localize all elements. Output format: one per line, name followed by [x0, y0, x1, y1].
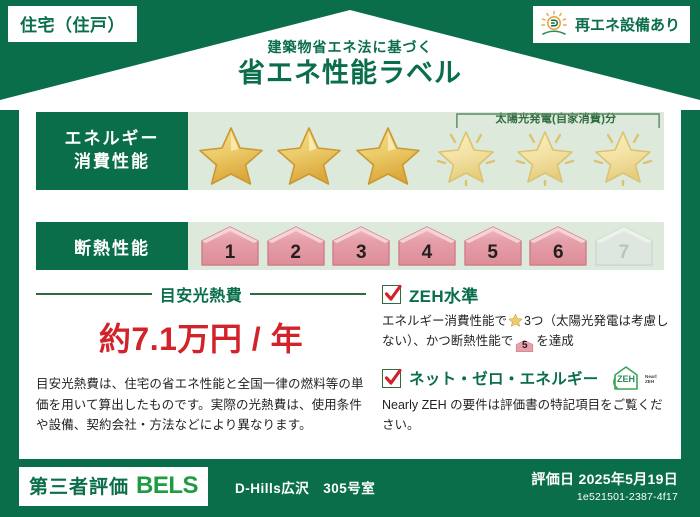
title-block: 建築物省エネ法に基づく 省エネ性能ラベル — [0, 40, 700, 89]
zeh-house-logo-icon: ZEH Nearly ZEH — [611, 365, 657, 391]
insulation-level-4: 4 — [395, 225, 459, 267]
inline-star-icon — [508, 313, 523, 327]
utility-cost-heading: 目安光熱費 — [36, 282, 366, 306]
bels-en-label: BELS — [136, 472, 198, 500]
renewable-badge-label: 再エネ設備あり — [575, 14, 680, 35]
svg-text:ZEH: ZEH — [645, 379, 655, 384]
insulation-level-2-value: 2 — [290, 242, 301, 267]
zeh-standard-header: ZEH水準 — [382, 282, 672, 307]
insulation-level-1-value: 1 — [225, 242, 236, 267]
zeh-body-starcount: 3つ（太陽光発電 — [524, 314, 618, 328]
insulation-level-7: 7 — [592, 225, 656, 267]
star-icon-5-solar — [510, 124, 580, 186]
heading-rule-right — [250, 293, 366, 295]
insulation-level-4-value: 4 — [422, 242, 433, 267]
insulation-level-track: 1 2 3 — [188, 222, 664, 270]
net-zero-energy-checkbox — [382, 369, 401, 388]
star-icon-1 — [196, 124, 266, 186]
utility-cost-block: 目安光熱費 約7.1万円 / 年 目安光熱費は、住宅の省エネ性能と全国一律の燃料… — [36, 282, 366, 436]
utility-cost-value: 約7.1万円 / 年 — [36, 314, 366, 360]
star-icon-3 — [353, 124, 423, 186]
insulation-level-2: 2 — [264, 225, 328, 267]
insulation-performance-row: 断熱性能 1 — [36, 222, 664, 270]
star-icon-6-solar — [588, 124, 658, 186]
net-zero-energy-item: ネット・ゼロ・エネルギー ZEH Nearly ZEH Nearly ZEH の… — [382, 365, 672, 435]
insulation-level-6-value: 6 — [553, 242, 564, 267]
net-zero-energy-body: Nearly ZEH の要件は評価書の特記項目をご覧ください。 — [382, 395, 672, 435]
insulation-level-1: 1 — [198, 225, 262, 267]
insulation-house-group: 1 2 3 — [198, 225, 656, 267]
energy-performance-label: 住宅（住戸） 再エネ設備あり 建築物省エネ法に基づく 省エネ性能ラベル — [0, 0, 700, 517]
net-zero-energy-title: ネット・ゼロ・エネルギー — [409, 367, 599, 389]
star-rating-group — [196, 124, 658, 186]
energy-label-line1: エネルギー — [65, 128, 160, 151]
heading-rule-left — [36, 293, 152, 295]
insulation-level-5: 5 — [461, 225, 525, 267]
house-type-tag: 住宅（住戸） — [8, 6, 137, 42]
title-main: 省エネ性能ラベル — [0, 59, 700, 89]
insulation-level-3: 3 — [329, 225, 393, 267]
star-icon-4-solar — [431, 124, 501, 186]
property-name: D-Hills広沢 305号室 — [235, 477, 375, 497]
zeh-body-part1: エネルギー消費性能で — [382, 314, 507, 328]
insulation-performance-label: 断熱性能 — [36, 222, 188, 270]
energy-star-track: 太陽光発電(自家消費)分 — [188, 112, 664, 190]
utility-cost-heading-text: 目安光熱費 — [160, 282, 243, 306]
insulation-level-6: 6 — [526, 225, 590, 267]
insulation-level-7-value: 7 — [619, 242, 630, 267]
check-icon — [383, 367, 403, 389]
footer: 第三者評価 BELS D-Hills広沢 305号室 評価日 2025年5月19… — [0, 459, 700, 517]
inline-house-icon: 5 — [515, 338, 534, 353]
energy-performance-row: エネルギー 消費性能 太陽光発電(自家消費)分 — [36, 112, 664, 190]
zeh-standard-checkbox — [382, 285, 401, 304]
star-icon-2 — [274, 124, 344, 186]
renewable-equipment-badge: 再エネ設備あり — [533, 6, 690, 43]
insulation-level-5-value: 5 — [487, 242, 498, 267]
zeh-standard-title: ZEH水準 — [409, 282, 479, 307]
svg-text:ZEH: ZEH — [617, 374, 635, 384]
solar-sun-icon — [539, 10, 569, 38]
energy-label-line2: 消費性能 — [74, 151, 150, 174]
zeh-panel: ZEH水準 エネルギー消費性能で3つ（太陽光発電は考慮しない）、かつ断熱性能で5… — [382, 282, 672, 447]
bels-certification-box: 第三者評価 BELS — [19, 467, 208, 506]
check-icon — [383, 283, 403, 305]
zeh-body-part3: を達成 — [536, 334, 574, 348]
evaluation-date: 評価日 2025年5月19日 — [531, 469, 678, 489]
zeh-standard-item: ZEH水準 エネルギー消費性能で3つ（太陽光発電は考慮しない）、かつ断熱性能で5… — [382, 282, 672, 353]
evaluation-id: 1e521501-2387-4f17 — [577, 491, 678, 503]
utility-cost-note: 目安光熱費は、住宅の省エネ性能と全国一律の燃料等の単価を用いて算出したものです。… — [36, 374, 366, 436]
bels-jp-label: 第三者評価 — [29, 472, 129, 499]
zeh-standard-body: エネルギー消費性能で3つ（太陽光発電は考慮しない）、かつ断熱性能で5を達成 — [382, 311, 672, 353]
insulation-level-3-value: 3 — [356, 242, 367, 267]
inline-house-value: 5 — [515, 338, 534, 354]
energy-performance-label: エネルギー 消費性能 — [36, 112, 188, 190]
net-zero-energy-header: ネット・ゼロ・エネルギー ZEH Nearly ZEH — [382, 365, 672, 391]
